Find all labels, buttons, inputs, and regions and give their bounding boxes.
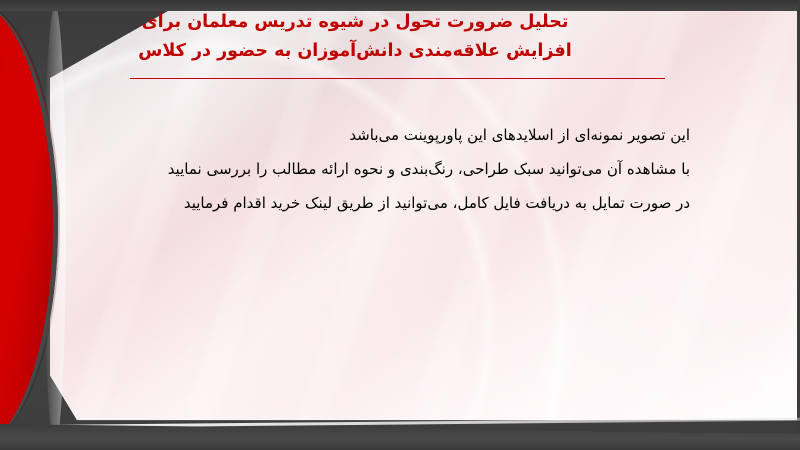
body-line-1: این تصویر نمونه‌ای از اسلایدهای این پاور…	[130, 118, 690, 152]
diagonal-sheen-overlay	[50, 10, 798, 435]
arc-highlight-decoration	[0, 0, 590, 450]
slide-title: تحلیل ضرورت تحول در شیوه تدریس معلمان بر…	[95, 8, 615, 66]
slide-content-panel	[50, 10, 798, 435]
body-line-3: در صورت تمایل به دریافت فایل کامل، می‌تو…	[130, 186, 690, 220]
title-line-1: تحلیل ضرورت تحول در شیوه تدریس معلمان بر…	[95, 8, 615, 37]
presentation-slide: تحلیل ضرورت تحول در شیوه تدریس معلمان بر…	[0, 0, 800, 450]
slide-body-text: این تصویر نمونه‌ای از اسلایدهای این پاور…	[130, 118, 690, 220]
title-underline-rule	[130, 78, 665, 79]
title-line-2: افزایش علاقه‌مندی دانش‌آموزان به حضور در…	[95, 37, 615, 66]
body-line-2: با مشاهده آن می‌توانید سبک طراحی، رنگ‌بن…	[130, 152, 690, 186]
